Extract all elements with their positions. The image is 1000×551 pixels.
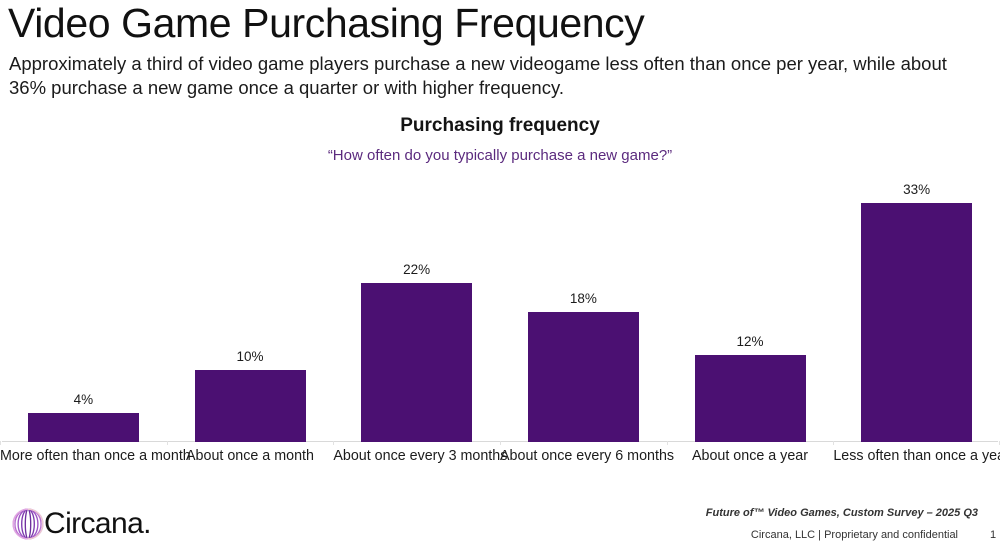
x-axis-category-label: About once a year [667,448,834,464]
bar-value-label: 4% [28,392,139,407]
page-subtitle: Approximately a third of video game play… [9,52,989,100]
bar-item[interactable]: 12% [695,181,806,442]
circana-wordmark: Circana. [44,506,151,542]
circana-sphere-icon [10,506,46,542]
bar-item[interactable]: 22% [361,181,472,442]
x-axis-category-label: Less often than once a year [833,448,1000,464]
page-title: Video Game Purchasing Frequency [8,0,644,48]
footer-source-note: Future of™ Video Games, Custom Survey – … [706,507,978,519]
bar-rect[interactable] [528,312,639,443]
bar-rect[interactable] [361,283,472,443]
footer-legal-note: Circana, LLC | Proprietary and confident… [751,529,958,541]
bar-value-label: 18% [528,291,639,306]
bar-value-label: 33% [861,182,972,197]
x-axis-category-labels: More often than once a monthAbout once a… [0,448,1000,470]
x-axis-category-label: About once every 3 months [333,448,500,464]
x-axis-tick [500,441,501,445]
circana-logo: Circana. [10,504,151,544]
bar-chart-plot-area: 4%10%22%18%12%33% [0,180,1000,442]
bar-rect[interactable] [861,203,972,442]
x-axis-tick [167,441,168,445]
x-axis-category-label: More often than once a month [0,448,167,464]
bar-value-label: 10% [195,349,306,364]
bar-rect[interactable] [28,413,139,442]
footer-page-number: 1 [990,529,998,541]
chart-title: Purchasing frequency [0,115,1000,137]
x-axis-tick [0,441,1,445]
footer: Circana. Future of™ Video Games, Custom … [0,497,1000,551]
bar-value-label: 22% [361,262,472,277]
x-axis-tick [667,441,668,445]
bar-value-label: 12% [695,334,806,349]
slide: Video Game Purchasing Frequency Approxim… [0,0,1000,551]
bar-rect[interactable] [195,370,306,443]
x-axis-category-label: About once every 6 months [500,448,667,464]
bar-rect[interactable] [695,355,806,442]
x-axis-tick [833,441,834,445]
bar-item[interactable]: 4% [28,181,139,442]
chart-question-subtitle: “How often do you typically purchase a n… [0,147,1000,164]
bar-item[interactable]: 18% [528,181,639,442]
x-axis-category-label: About once a month [167,448,334,464]
bar-item[interactable]: 33% [861,181,972,442]
bar-item[interactable]: 10% [195,181,306,442]
x-axis-tick [333,441,334,445]
